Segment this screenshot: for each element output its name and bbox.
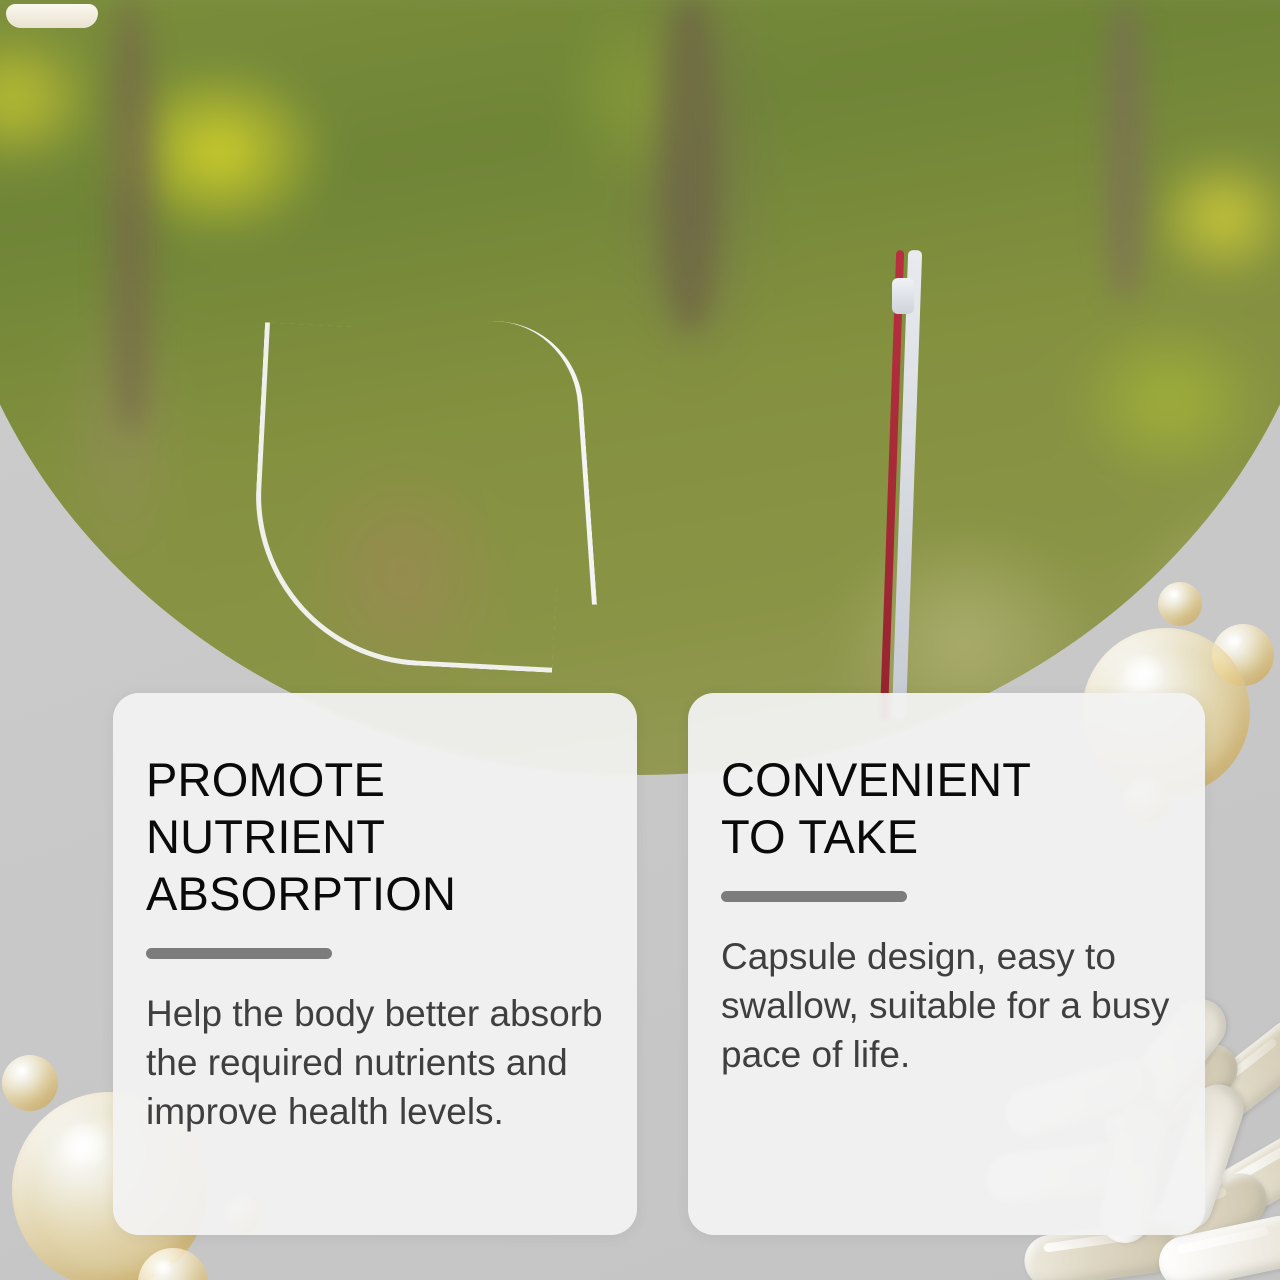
feature-card-promote-nutrient-absorption[interactable]: PROMOTE NUTRIENT ABSORPTION Help the bod… xyxy=(113,693,637,1235)
oil-bubble xyxy=(1158,582,1202,626)
card-divider-rule xyxy=(146,948,332,959)
card-body-text: Help the body better absorb the required… xyxy=(146,989,611,1136)
tree-trunk-icon xyxy=(660,0,720,330)
tree-trunk-icon xyxy=(108,0,154,430)
card-title: CONVENIENT TO TAKE xyxy=(721,751,1179,865)
hero-photo-region xyxy=(0,0,1280,780)
card-divider-rule xyxy=(721,891,907,902)
jacket-zipper-pull xyxy=(892,278,914,314)
hero-circle-mask xyxy=(0,0,1280,775)
card-body-text: Capsule design, easy to swallow, suitabl… xyxy=(721,932,1179,1079)
infographic-canvas: PROMOTE NUTRIENT ABSORPTION Help the bod… xyxy=(0,0,1280,1280)
feature-card-convenient-to-take[interactable]: CONVENIENT TO TAKE Capsule design, easy … xyxy=(688,693,1205,1235)
senior-couple-jogging-photo xyxy=(0,0,1280,775)
oil-bubble xyxy=(2,1055,58,1111)
card-title: PROMOTE NUTRIENT ABSORPTION xyxy=(146,751,611,922)
tree-trunk-icon xyxy=(1105,0,1145,300)
park-background xyxy=(0,0,1280,775)
